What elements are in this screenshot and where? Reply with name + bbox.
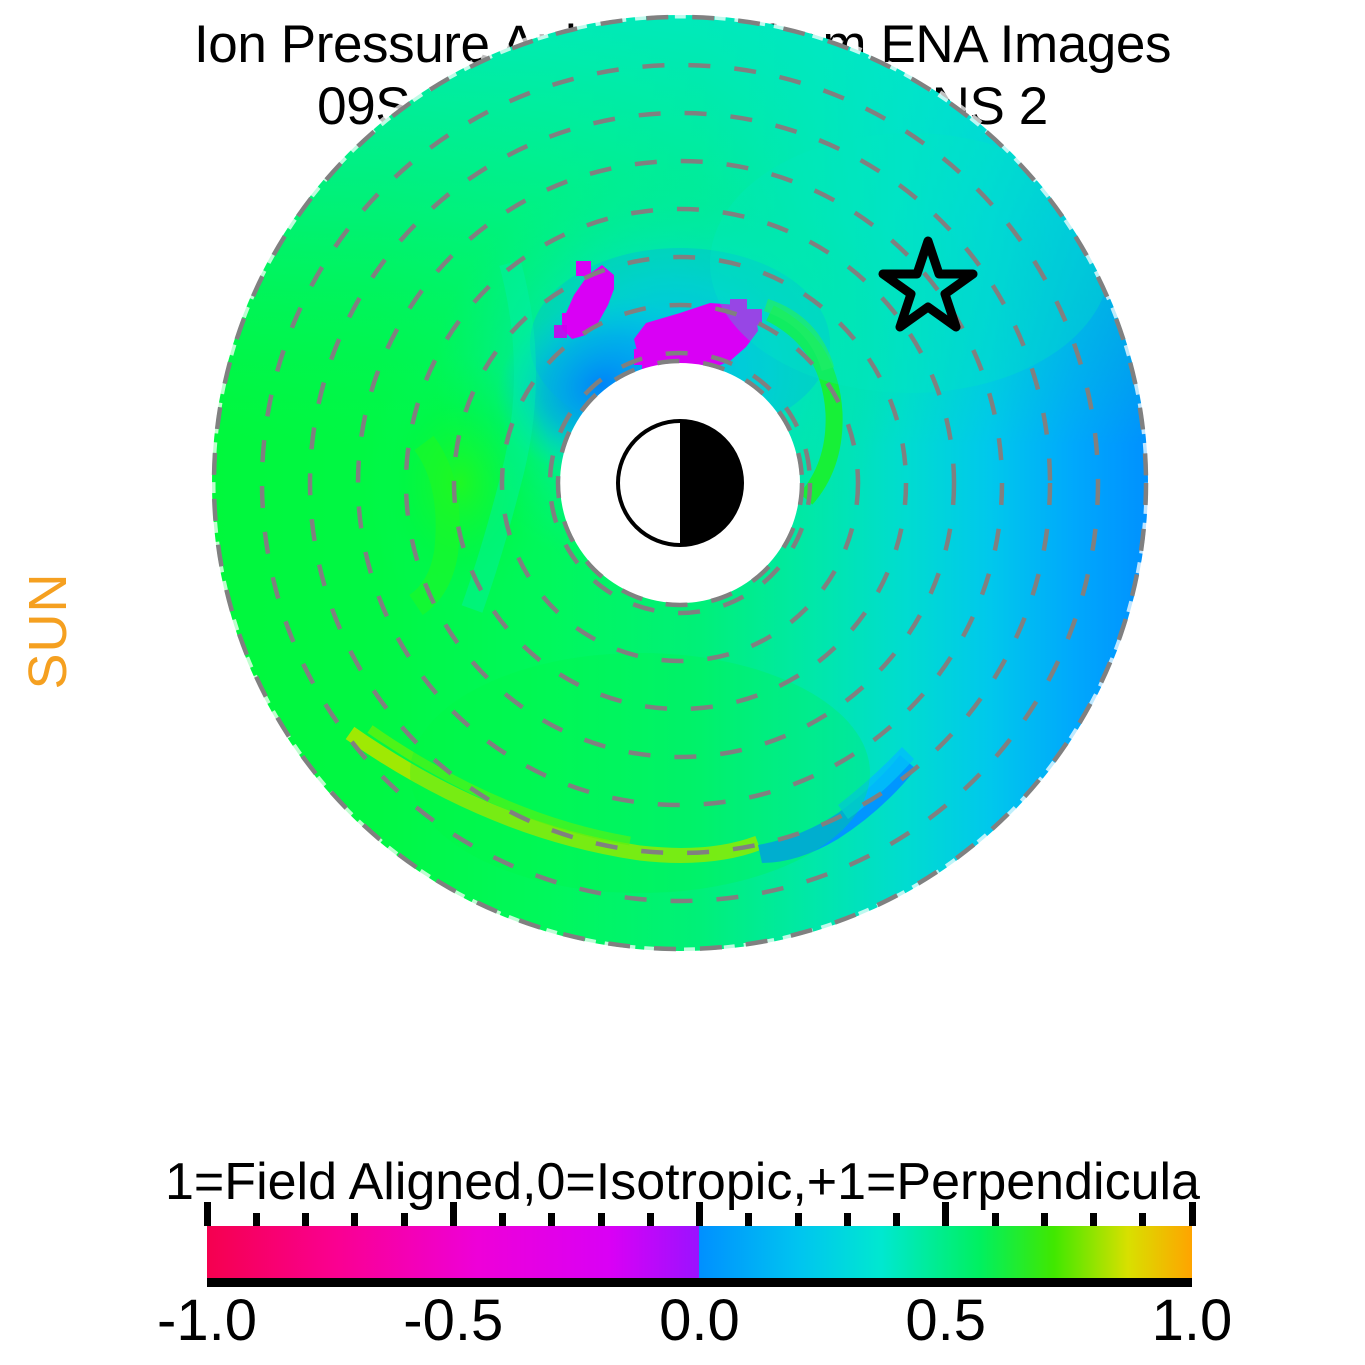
- colorbar-tick-label: 0.0: [590, 1290, 810, 1352]
- colorbar-tick-minor: [1041, 1213, 1048, 1226]
- polar-disk-wrapper: [210, 13, 1150, 953]
- colorbar-tick-minor: [844, 1213, 851, 1226]
- colorbar-tick-major: [204, 1202, 211, 1226]
- colorbar-tick-label: 0.5: [836, 1290, 1056, 1352]
- colorbar-tick-minor: [548, 1213, 555, 1226]
- colorbar-tick-labels: -1.0-0.50.00.51.0: [0, 1290, 1365, 1360]
- polar-plot-area: SUN: [0, 0, 1365, 960]
- figure-root: Ion Pressure Anisotropy from ENA Images …: [0, 0, 1365, 1365]
- colorbar-tick-minor: [401, 1213, 408, 1226]
- colorbar-tick-minor: [1090, 1213, 1097, 1226]
- colorbar-tick-minor: [302, 1213, 309, 1226]
- colorbar-tick-major: [696, 1202, 703, 1226]
- colorbar-tick-major: [1189, 1202, 1196, 1226]
- sun-direction-label: SUN: [17, 531, 79, 731]
- colorbar-tick-minor: [1139, 1213, 1146, 1226]
- colorbar-gradient: [207, 1226, 1192, 1278]
- colorbar-tick-minor: [499, 1213, 506, 1226]
- colorbar-tick-major: [942, 1202, 949, 1226]
- colorbar-tick-minor: [795, 1213, 802, 1226]
- colorbar-tick-major: [450, 1202, 457, 1226]
- colorbar-tick-minor: [647, 1213, 654, 1226]
- colorbar-tick-minor: [992, 1213, 999, 1226]
- colorbar-tick-label: 1.0: [1082, 1290, 1302, 1352]
- colorbar-negative-half: [207, 1226, 699, 1278]
- colorbar-tick-minor: [351, 1213, 358, 1226]
- colorbar-tick-label: -1.0: [97, 1290, 317, 1352]
- earth-day-night-icon: [618, 421, 742, 545]
- colorbar-tick-minor: [253, 1213, 260, 1226]
- colorbar-axis-line: [207, 1278, 1192, 1287]
- colorbar: [207, 1226, 1192, 1278]
- colorbar-tick-minor: [893, 1213, 900, 1226]
- colorbar-positive-half: [699, 1226, 1192, 1278]
- anisotropy-heatmap: [210, 13, 1150, 953]
- colorbar-tick-label: -0.5: [343, 1290, 563, 1352]
- colorbar-tick-minor: [598, 1213, 605, 1226]
- colorbar-tick-minor: [745, 1213, 752, 1226]
